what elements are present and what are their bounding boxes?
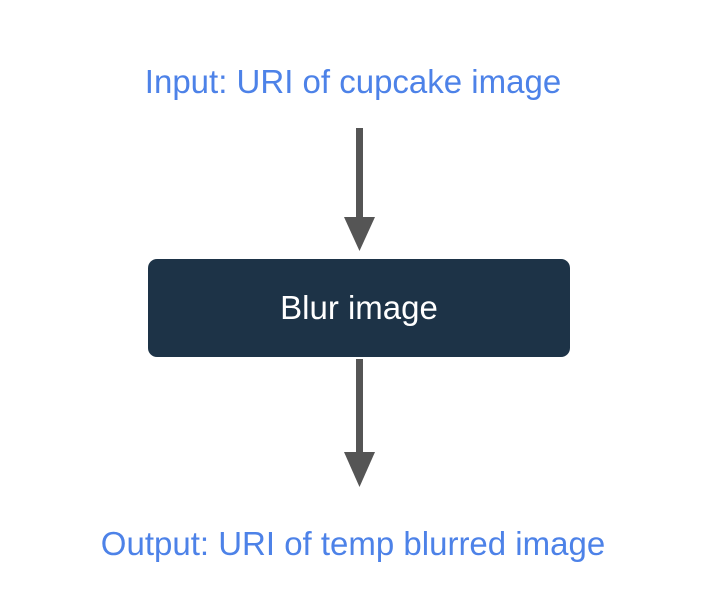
edge-input-to-process-stem xyxy=(356,128,363,221)
edge-process-to-output-stem xyxy=(356,359,363,455)
edge-input-to-process xyxy=(344,128,375,251)
edge-input-to-process-arrowhead xyxy=(344,217,375,251)
process-node-label: Blur image xyxy=(280,289,438,327)
edge-process-to-output-arrowhead xyxy=(344,452,375,487)
flowchart-canvas: Input: URI of cupcake image Blur image O… xyxy=(0,0,706,612)
input-label: Input: URI of cupcake image xyxy=(0,62,706,102)
process-node-blur-image[interactable]: Blur image xyxy=(148,259,570,357)
edge-process-to-output xyxy=(344,359,375,487)
output-label: Output: URI of temp blurred image xyxy=(0,524,706,564)
